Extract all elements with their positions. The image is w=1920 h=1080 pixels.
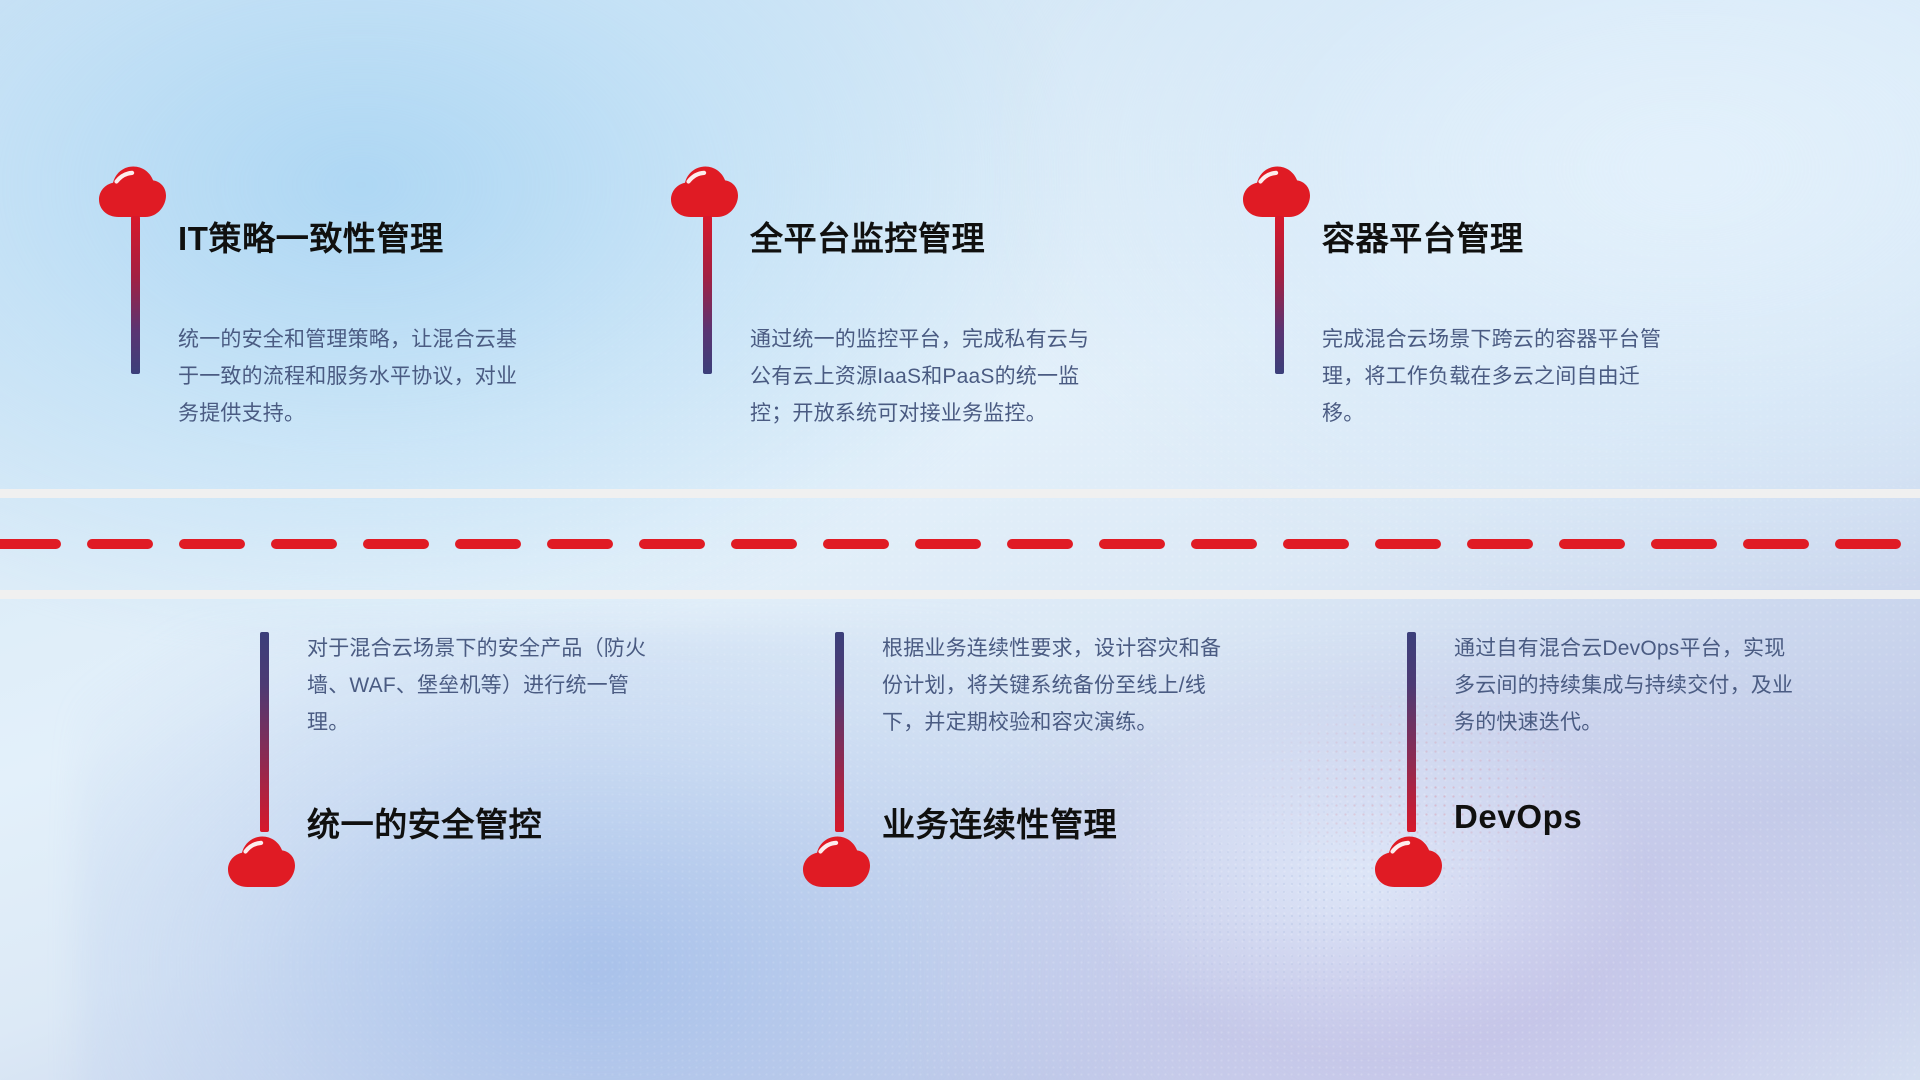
divider-band-bottom	[0, 590, 1920, 599]
feature-title: DevOps	[1454, 798, 1582, 836]
divider-band-top	[0, 489, 1920, 498]
cloud-pin-icon	[1240, 160, 1320, 220]
feature-body: 根据业务连续性要求，设计容灾和备份计划，将关键系统备份至线上/线下，并定期校验和…	[882, 630, 1232, 741]
cloud-pin-icon	[800, 830, 880, 890]
cloud-pin-icon	[1372, 830, 1452, 890]
pin-stem	[703, 216, 712, 374]
feature-body: 统一的安全和管理策略，让混合云基于一致的流程和服务水平协议，对业务提供支持。	[178, 321, 528, 432]
pin-stem	[260, 632, 269, 832]
feature-title: 容器平台管理	[1322, 212, 1524, 260]
pin-stem	[1275, 216, 1284, 374]
cloud-pin-icon	[96, 160, 176, 220]
cloud-pin-icon	[225, 830, 305, 890]
feature-title: 统一的安全管控	[307, 798, 542, 846]
infographic-canvas: IT策略一致性管理 统一的安全和管理策略，让混合云基于一致的流程和服务水平协议，…	[0, 0, 1920, 1080]
pin-stem	[1407, 632, 1416, 832]
cloud-pin-icon	[668, 160, 748, 220]
center-divider	[0, 489, 1920, 599]
feature-body: 通过自有混合云DevOps平台，实现多云间的持续集成与持续交付，及业务的快速迭代…	[1454, 630, 1804, 741]
dashed-divider-icon	[0, 539, 1920, 549]
feature-body: 对于混合云场景下的安全产品（防火墙、WAF、堡垒机等）进行统一管理。	[307, 630, 657, 741]
feature-title: 业务连续性管理	[882, 798, 1117, 846]
feature-body: 通过统一的监控平台，完成私有云与公有云上资源IaaS和PaaS的统一监控；开放系…	[750, 321, 1100, 432]
pin-stem	[131, 216, 140, 374]
feature-title: IT策略一致性管理	[178, 212, 444, 260]
pin-stem	[835, 632, 844, 832]
feature-body: 完成混合云场景下跨云的容器平台管理，将工作负载在多云之间自由迁移。	[1322, 321, 1672, 432]
feature-title: 全平台监控管理	[750, 212, 985, 260]
